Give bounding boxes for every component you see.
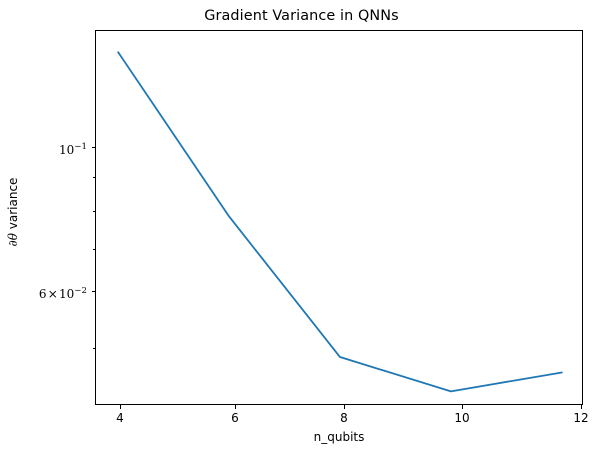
xtick-mark-12 — [581, 405, 582, 409]
ytick-minor-5e-2 — [93, 348, 95, 349]
ytick-mark-6e-2 — [92, 291, 96, 292]
ytick-minor-7e-2 — [93, 249, 95, 250]
yaxis-label-text: variance — [6, 178, 20, 233]
ytick-minor-8e-2 — [93, 211, 95, 212]
ytick-label-1e-1: 10−1 — [59, 140, 87, 157]
ytick-label-1e-1-text: 10−1 — [59, 143, 87, 157]
page-title: Gradient Variance in QNNs — [0, 7, 603, 25]
ytick-label-6e-2-text: 6 × 10−2 — [39, 287, 87, 301]
xtick-mark-4 — [120, 405, 121, 409]
yaxis-label-symbol: ∂θ — [6, 233, 20, 246]
yaxis-label: ∂θ variance — [6, 152, 20, 272]
matplotlib-figure: Gradient Variance in QNNs 4 6 8 10 12 10… — [0, 0, 603, 455]
xtick-label-8: 8 — [324, 411, 364, 425]
xtick-label-4: 4 — [100, 411, 140, 425]
xtick-mark-10 — [462, 405, 463, 409]
xtick-label-6: 6 — [215, 411, 255, 425]
ytick-mark-1e-1 — [92, 147, 96, 148]
ytick-minor-9e-2 — [93, 177, 95, 178]
xaxis-label: n_qubits — [95, 430, 583, 444]
xtick-mark-6 — [235, 405, 236, 409]
xtick-mark-8 — [344, 405, 345, 409]
xtick-label-10: 10 — [442, 411, 482, 425]
ytick-label-6e-2: 6 × 10−2 — [39, 284, 87, 301]
plot-area — [95, 30, 583, 405]
xtick-label-12: 12 — [561, 411, 601, 425]
data-line-series — [96, 31, 584, 406]
line-path-dtheta-variance — [118, 52, 562, 391]
